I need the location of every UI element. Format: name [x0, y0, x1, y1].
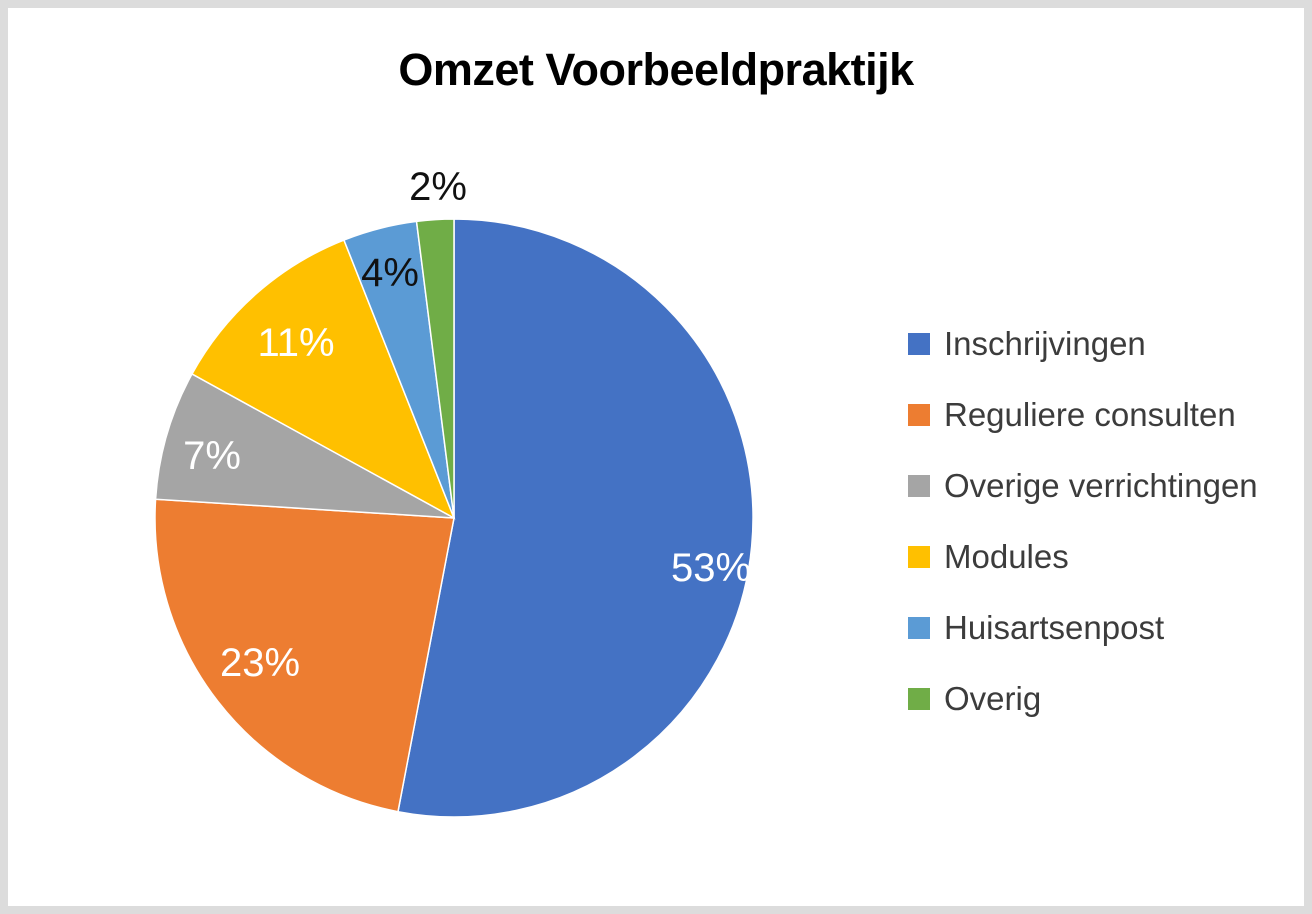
pie-slice-group	[155, 219, 753, 817]
legend-swatch-icon	[908, 546, 930, 568]
pie-chart[interactable]: 53%23%7%11%4%2%	[146, 210, 762, 826]
legend-label: Huisartsenpost	[944, 609, 1164, 647]
legend-label: Overig	[944, 680, 1041, 718]
chart-frame: Omzet Voorbeeldpraktijk 53%23%7%11%4%2% …	[0, 0, 1312, 914]
legend-item-reguliere-consulten[interactable]: Reguliere consulten	[908, 379, 1298, 450]
chart-legend: InschrijvingenReguliere consultenOverige…	[908, 308, 1298, 734]
legend-label: Modules	[944, 538, 1069, 576]
legend-swatch-icon	[908, 404, 930, 426]
legend-item-overige-verrichtingen[interactable]: Overige verrichtingen	[908, 450, 1298, 521]
chart-title: Omzet Voorbeeldpraktijk	[8, 44, 1304, 96]
legend-label: Inschrijvingen	[944, 325, 1146, 363]
legend-label: Overige verrichtingen	[944, 467, 1258, 505]
legend-item-huisartsenpost[interactable]: Huisartsenpost	[908, 592, 1298, 663]
legend-item-inschrijvingen[interactable]: Inschrijvingen	[908, 308, 1298, 379]
pie-svg	[146, 210, 762, 826]
legend-swatch-icon	[908, 688, 930, 710]
pie-label-overig: 2%	[409, 167, 467, 207]
legend-label: Reguliere consulten	[944, 396, 1236, 434]
legend-item-modules[interactable]: Modules	[908, 521, 1298, 592]
legend-swatch-icon	[908, 475, 930, 497]
legend-item-overig[interactable]: Overig	[908, 663, 1298, 734]
legend-swatch-icon	[908, 617, 930, 639]
legend-swatch-icon	[908, 333, 930, 355]
